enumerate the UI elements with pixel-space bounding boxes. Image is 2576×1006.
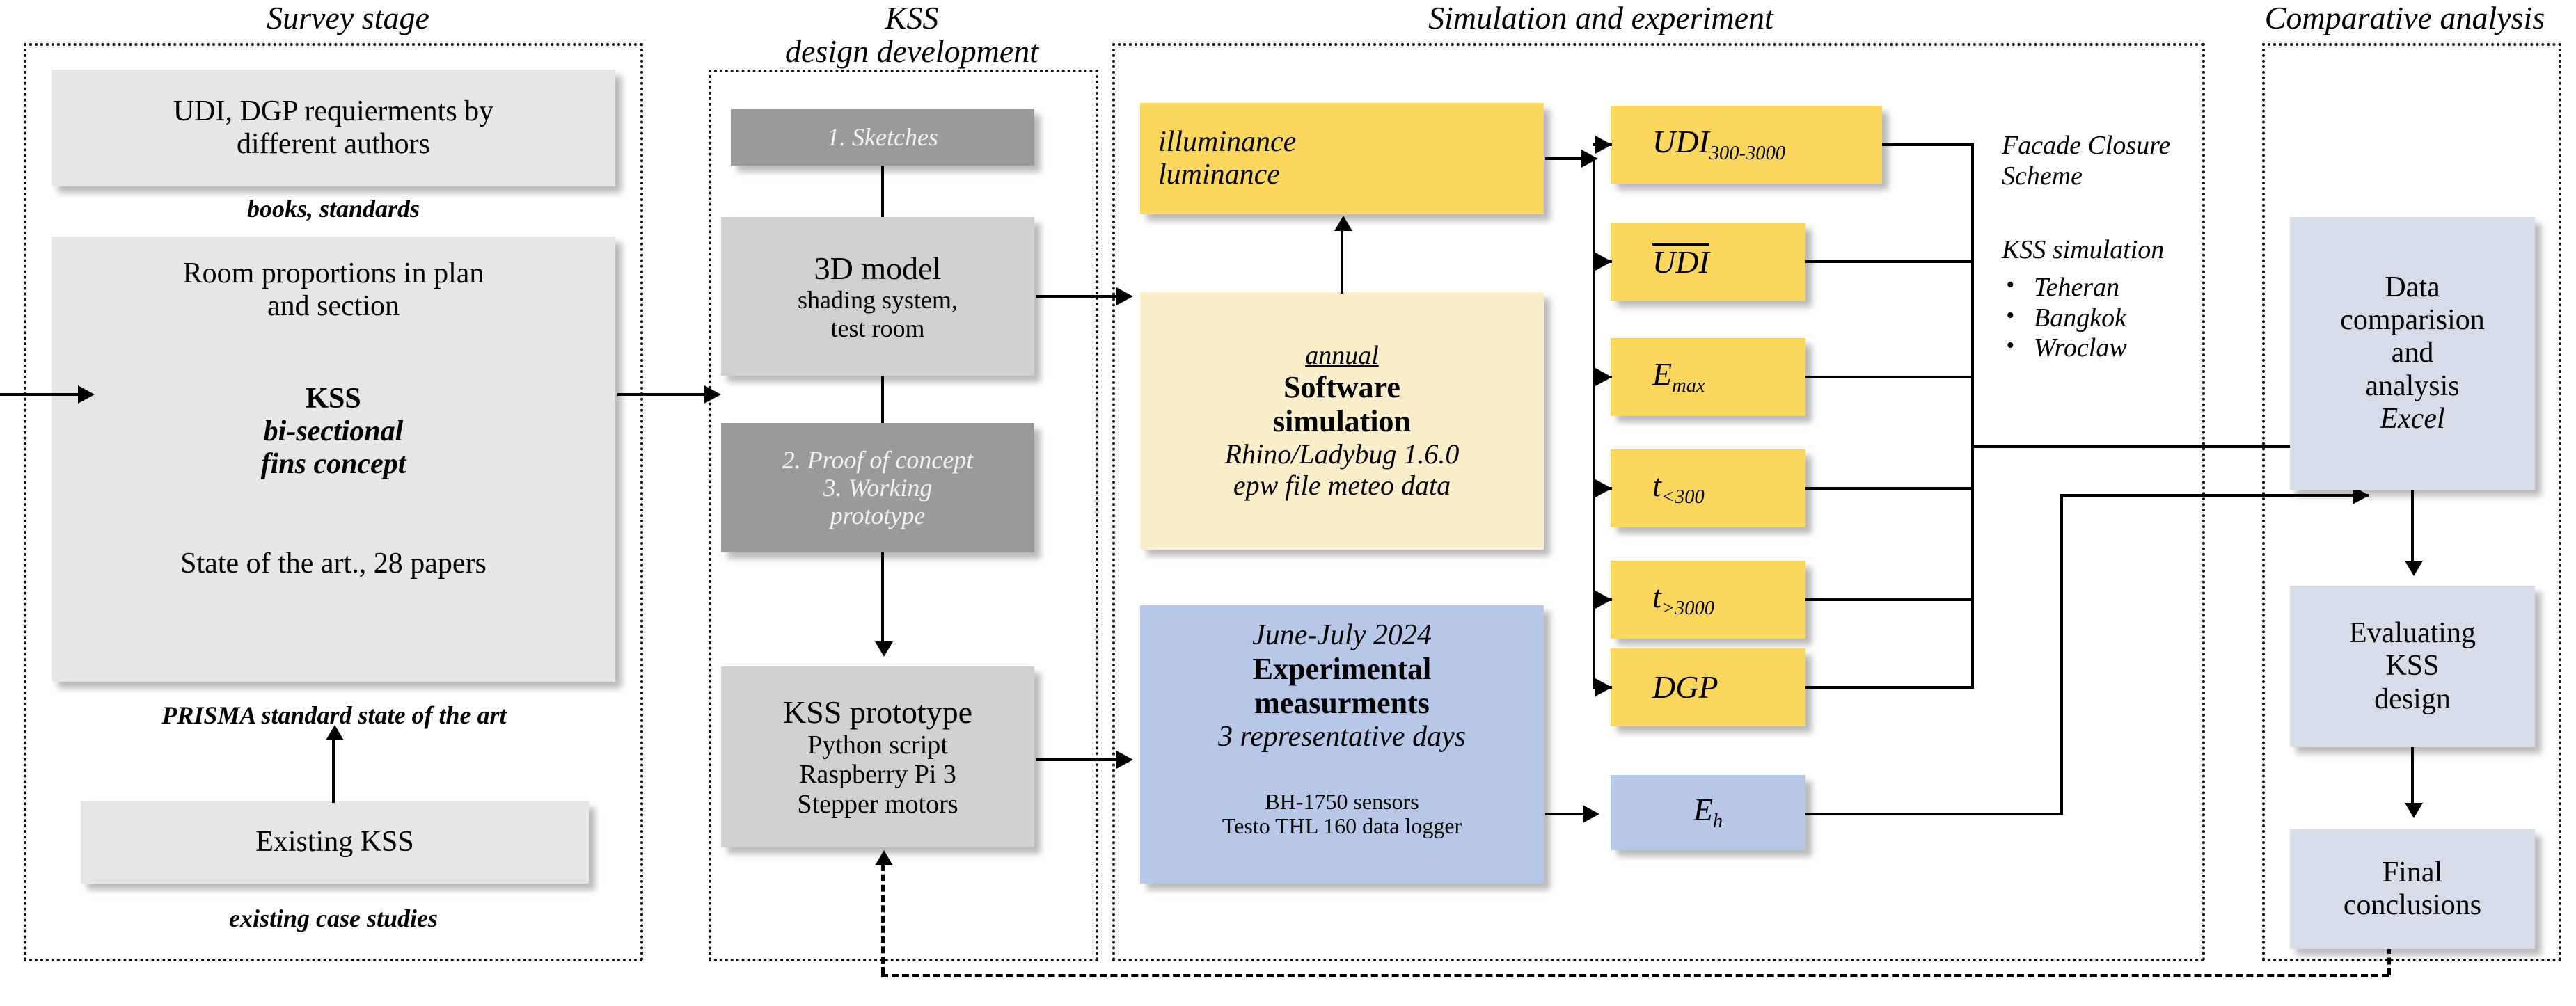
connector-survey-to-design-arrow	[704, 385, 721, 404]
box-line: comparision	[2296, 304, 2529, 337]
box-line: 3. Working	[727, 474, 1029, 502]
note-books-standards: books, standards	[52, 195, 615, 223]
box-udi-dgp-requirements: UDI, DGP requierments by different autho…	[52, 70, 615, 186]
box-experimental-measurements: June-July 2024 Experimental measurments …	[1140, 605, 1544, 884]
metric-arrow-5	[1595, 678, 1612, 696]
box-line: design	[2296, 683, 2529, 716]
box-data-comparison-analysis: Data comparision and analysis Excel	[2290, 217, 2535, 490]
box-line: test room	[727, 314, 1029, 342]
box-line-fins: fins concept	[57, 448, 610, 481]
city-label: Bangkok	[2034, 303, 2126, 333]
note-existing-case-studies: existing case studies	[52, 904, 615, 933]
metric-label: Emax	[1652, 356, 1705, 397]
box-line: Raspberry Pi 3	[727, 760, 1029, 790]
box-proof-of-concept: 2. Proof of concept 3. Working prototype	[721, 423, 1034, 552]
box-line: Room proportions in plan	[57, 257, 610, 290]
connector-sim-to-illum-line	[1341, 230, 1343, 294]
metric-box-e-max: Emax	[1611, 338, 1805, 416]
metric-box-t-gt-3000: t>3000	[1611, 561, 1805, 639]
box-line-title: measurments	[1146, 686, 1538, 720]
box-existing-kss: Existing KSS	[81, 801, 589, 884]
box-line: shading system,	[727, 286, 1029, 314]
city-label: Teheran	[2034, 273, 2119, 302]
box-line-annual: annual	[1146, 341, 1538, 371]
collector-stub-t3000	[1805, 598, 1974, 601]
connector-eh-line	[1805, 813, 2063, 815]
box-line: 1. Sketches	[736, 123, 1029, 151]
box-sketches: 1. Sketches	[731, 109, 1034, 166]
metric-box-udi-300-3000: UDI300-3000	[1611, 106, 1882, 184]
metric-arrow-3	[1595, 479, 1612, 497]
box-line: conclusions	[2296, 889, 2529, 922]
feedback-hline-bottom	[881, 974, 2389, 977]
stage-caption-comparative: Comparative analysis	[2234, 1, 2575, 35]
connector-eval-to-final-arrow	[2405, 803, 2423, 818]
annotation-kss-simulation: KSS simulation	[2002, 235, 2204, 266]
collector-stub-t300	[1805, 487, 1974, 490]
metric-box-e-h: Eh	[1611, 775, 1805, 850]
connector-eh-to-analysis-line	[2060, 494, 2369, 497]
box-line: UDI, DGP requierments by	[57, 95, 610, 128]
box-line: and	[2296, 337, 2529, 369]
feedback-arrow-into-prototype	[875, 850, 893, 865]
connector-proof-to-prototype-line	[881, 552, 884, 646]
box-line-title: Software	[1146, 370, 1538, 404]
metric-arrow-2	[1595, 368, 1612, 386]
metric-label: t>3000	[1652, 579, 1714, 620]
box-line: prototype	[727, 502, 1029, 529]
annotation-line: Facade Closure	[2002, 131, 2170, 160]
box-line: KSS	[2296, 650, 2529, 682]
connector-survey-to-design-line	[617, 393, 716, 396]
box-line: illuminance	[1158, 126, 1538, 159]
box-line-excel: Excel	[2296, 403, 2529, 436]
box-line-date: June-July 2024	[1146, 619, 1538, 652]
stage-caption-simulation: Simulation and experiment	[1253, 1, 1949, 35]
list-item-city: Teheran	[2002, 273, 2204, 303]
metric-label: Eh	[1693, 792, 1723, 833]
metric-arrow-1	[1595, 253, 1612, 271]
collector-stub-udi	[1882, 143, 1974, 146]
box-software-simulation: annual Software simulation Rhino/Ladybug…	[1140, 292, 1544, 550]
feedback-vline-prototype	[881, 864, 885, 974]
connector-model-to-sim-arrow	[1116, 287, 1133, 305]
connector-exp-to-eh-arrow	[1583, 805, 1599, 823]
stage-caption-design: KSS design development	[696, 1, 1128, 69]
box-room-proportions-kss: Room proportions in plan and section KSS…	[52, 237, 615, 682]
annotation-facade-closure-scheme: Facade Closure Scheme	[2002, 131, 2204, 191]
list-item-city: Bangkok	[2002, 303, 2204, 334]
metric-box-dgp: DGP	[1611, 648, 1805, 726]
box-line: Evaluating	[2296, 617, 2529, 650]
metric-box-udi-mean: UDI	[1611, 223, 1805, 301]
stage-caption-survey: Survey stage	[84, 1, 613, 35]
collector-stub-emax	[1805, 376, 1974, 378]
metric-label: UDI300-3000	[1652, 124, 1785, 165]
connector-prototype-to-exp-line	[1036, 758, 1126, 761]
box-line: luminance	[1158, 159, 1538, 191]
metric-label: UDI	[1652, 243, 1709, 280]
box-line: Python script	[727, 730, 1029, 760]
metric-arrow-0	[1595, 136, 1612, 154]
connector-eh-vline	[2060, 494, 2063, 815]
box-line: Stepper motors	[727, 790, 1029, 820]
box-line-title: Experimental	[1146, 652, 1538, 686]
metric-label: DGP	[1652, 669, 1718, 705]
box-line: Data	[2296, 271, 2529, 304]
connector-sim-to-illum-arrow	[1334, 216, 1352, 231]
connector-model-to-proof	[881, 376, 884, 423]
metric-box-t-lt-300: t<300	[1611, 449, 1805, 527]
box-illuminance-luminance: illuminance luminance	[1140, 103, 1544, 214]
box-line-bisectional: bi-sectional	[57, 415, 610, 448]
metric-label: t<300	[1652, 468, 1705, 509]
collector-bus-metrics	[1971, 143, 1974, 689]
connector-entry-line	[0, 393, 82, 396]
box-3d-model: 3D model shading system, test room	[721, 217, 1034, 376]
box-line-title: 3D model	[727, 250, 1029, 287]
connector-existing-to-room-arrow	[326, 725, 344, 740]
box-line: Existing KSS	[86, 826, 583, 859]
box-line-footnote: BH-1750 sensors	[1146, 790, 1538, 815]
box-line-title: KSS prototype	[727, 694, 1029, 730]
connector-existing-to-room-line	[332, 739, 335, 803]
box-line: 2. Proof of concept	[727, 446, 1029, 474]
box-line: epw file meteo data	[1146, 470, 1538, 502]
annotation-line: Scheme	[2002, 161, 2083, 191]
annotation-city-list: Teheran Bangkok Wroclaw	[2002, 273, 2204, 364]
box-line-title: simulation	[1146, 404, 1538, 438]
box-line: analysis	[2296, 370, 2529, 403]
box-line-kss: KSS	[57, 383, 610, 415]
box-line-footnote: Testo THL 160 data logger	[1146, 814, 1538, 839]
metric-arrow-4	[1595, 591, 1612, 609]
box-line: and section	[57, 290, 610, 323]
box-line-state-of-art: State of the art., 28 papers	[57, 548, 610, 580]
connector-entry-arrow	[78, 385, 95, 404]
box-evaluating-kss-design: Evaluating KSS design	[2290, 586, 2535, 747]
connector-prototype-to-exp-arrow	[1116, 751, 1133, 769]
box-line: Rhino/Ladybug 1.6.0	[1146, 439, 1538, 470]
connector-data-to-eval-arrow	[2405, 561, 2423, 576]
list-item-city: Wroclaw	[2002, 333, 2204, 364]
connector-proof-to-prototype-arrow	[875, 641, 893, 657]
connector-sketches-to-model	[881, 166, 884, 217]
city-label: Wroclaw	[2034, 333, 2127, 362]
box-line: different authors	[57, 128, 610, 161]
box-line: Final	[2296, 856, 2529, 889]
connector-model-to-sim-line	[1036, 295, 1126, 298]
box-kss-prototype: KSS prototype Python script Raspberry Pi…	[721, 666, 1034, 847]
box-final-conclusions: Final conclusions	[2290, 829, 2535, 949]
collector-stub-udi-mean	[1805, 260, 1974, 263]
connector-data-to-eval-line	[2411, 490, 2414, 570]
collector-stub-dgp	[1805, 686, 1974, 689]
box-line: 3 representative days	[1146, 721, 1538, 753]
